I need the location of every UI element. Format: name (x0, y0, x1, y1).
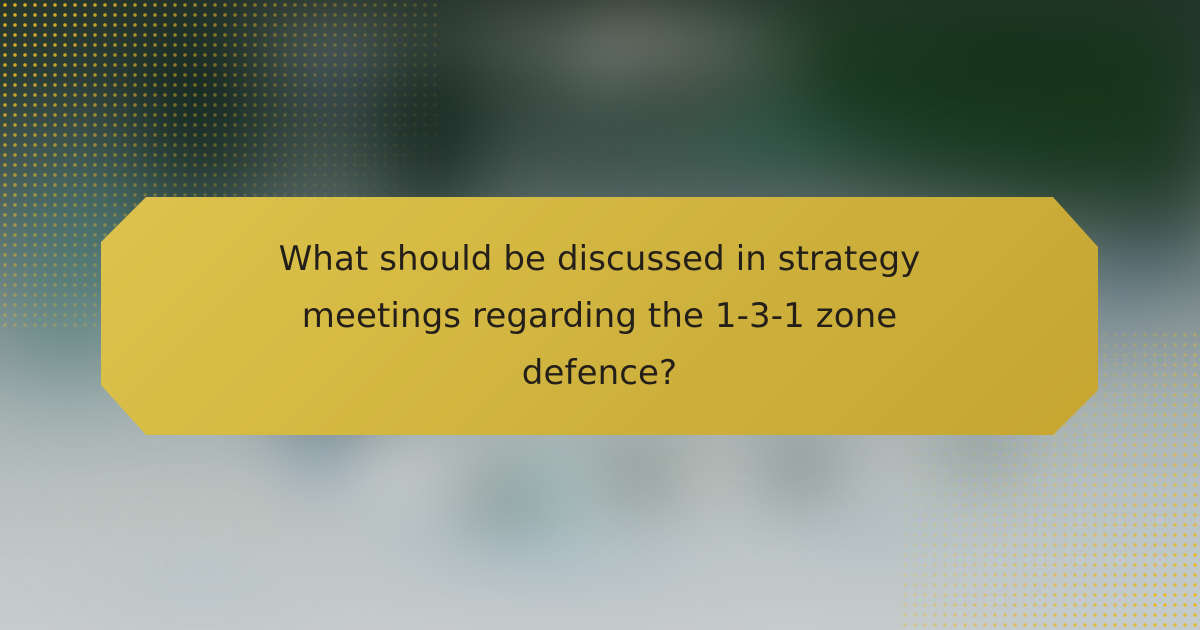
question-text: What should be discussed in strategy mee… (230, 231, 970, 402)
question-card: What should be discussed in strategy mee… (101, 197, 1098, 435)
screenshot-canvas: What should be discussed in strategy mee… (0, 0, 1200, 630)
